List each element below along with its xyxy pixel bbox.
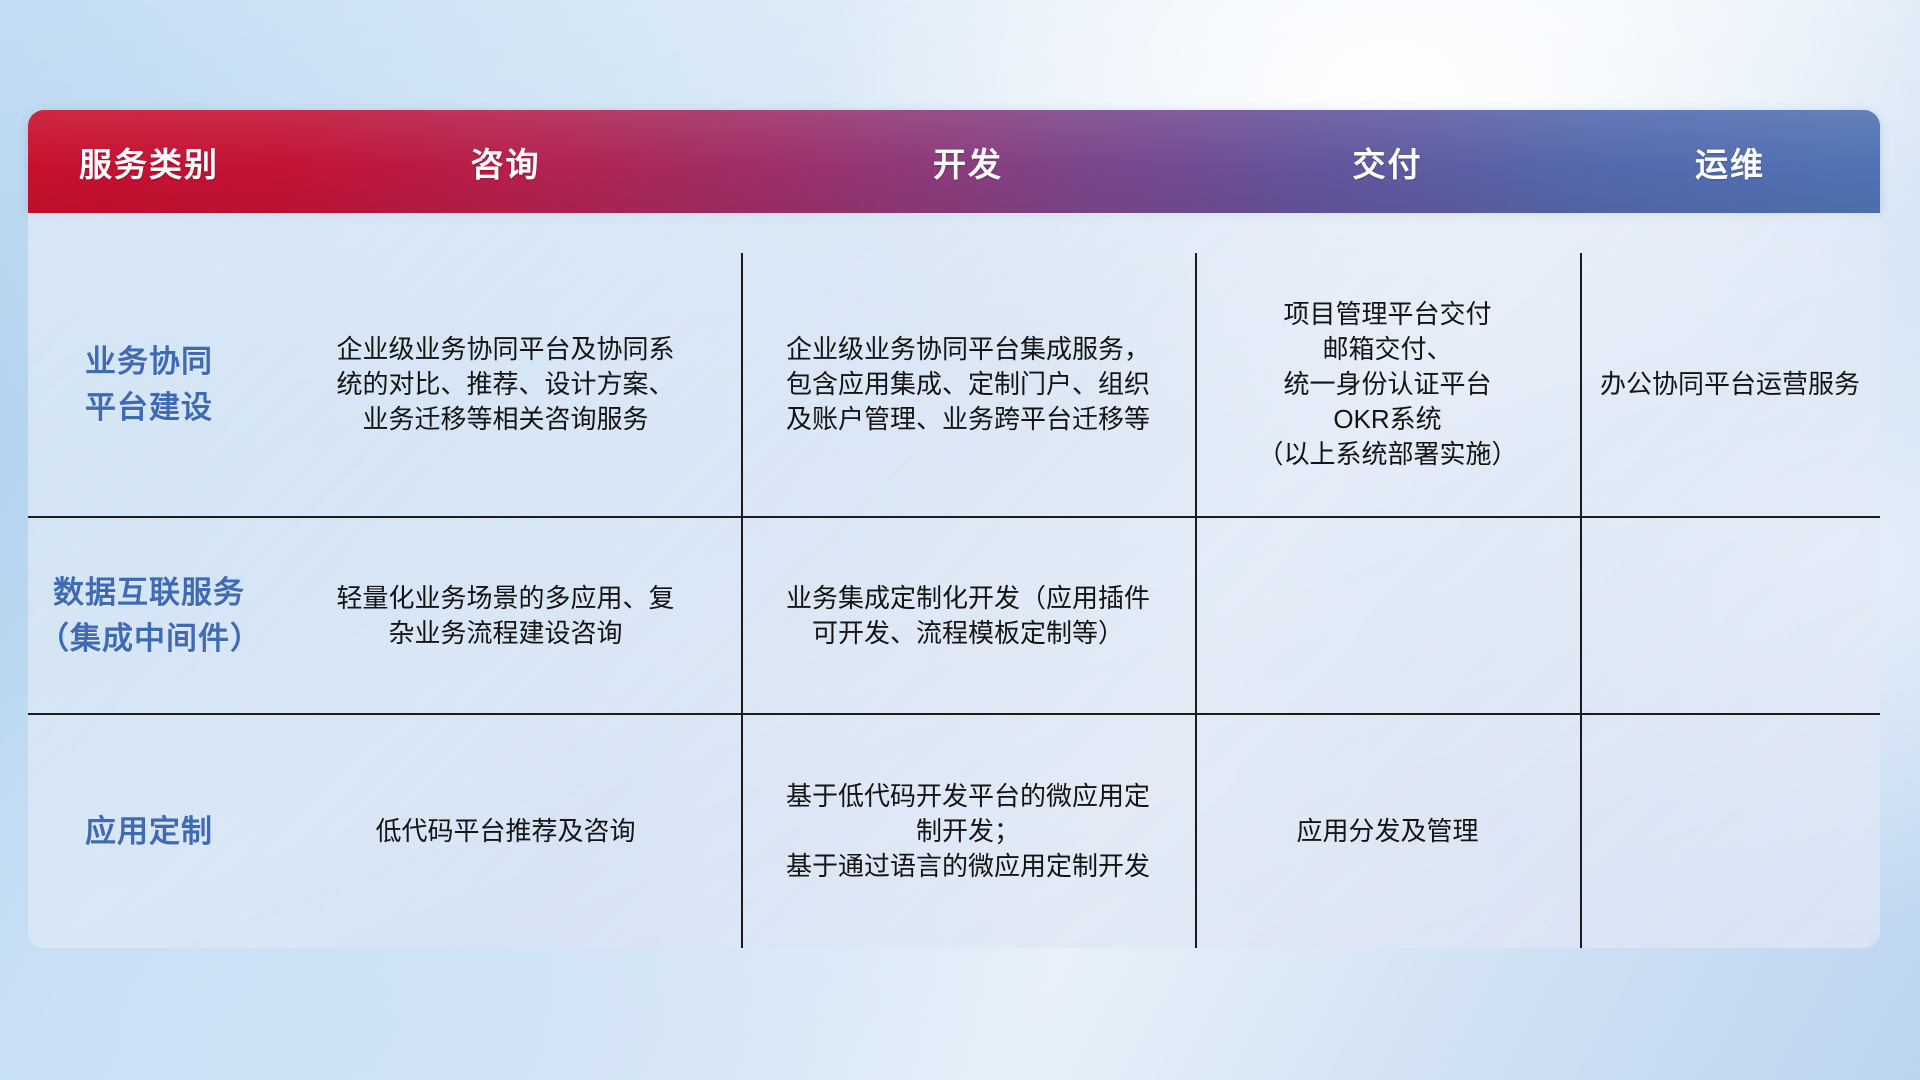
cell-r1-consulting: 企业级业务协同平台及协同系 统的对比、推荐、设计方案、 业务迁移等相关咨询服务 (270, 253, 741, 516)
cell-r3-consulting: 低代码平台推荐及咨询 (270, 715, 741, 948)
column-divider-3 (1580, 253, 1582, 948)
cell-r1-development: 企业级业务协同平台集成服务， 包含应用集成、定制门户、组织 及账户管理、业务跨平… (741, 253, 1195, 516)
table-body: 业务协同 平台建设 企业级业务协同平台及协同系 统的对比、推荐、设计方案、 业务… (28, 213, 1880, 948)
service-matrix-table: 服务类别 咨询 开发 交付 运维 业务协同 平台建设 企业级业务协同平台及协同系… (28, 110, 1880, 948)
row-label-app-customization: 应用定制 (28, 715, 270, 948)
cell-r3-development: 基于低代码开发平台的微应用定 制开发； 基于通过语言的微应用定制开发 (741, 715, 1195, 948)
cell-r2-consulting: 轻量化业务场景的多应用、复 杂业务流程建设咨询 (270, 518, 741, 713)
table-header-row: 服务类别 咨询 开发 交付 运维 (28, 110, 1880, 213)
column-header-consulting: 咨询 (270, 110, 741, 213)
cell-r1-operations: 办公协同平台运营服务 (1580, 253, 1880, 516)
column-header-category: 服务类别 (28, 110, 270, 213)
column-divider-2 (1195, 253, 1197, 948)
cell-r2-operations (1580, 518, 1880, 713)
row-divider-1 (28, 516, 1880, 518)
column-header-development: 开发 (741, 110, 1195, 213)
cell-r1-delivery: 项目管理平台交付 邮箱交付、 统一身份认证平台 OKR系统 （以上系统部署实施） (1195, 253, 1580, 516)
cell-r3-operations (1580, 715, 1880, 948)
cell-r2-delivery (1195, 518, 1580, 713)
row-divider-2 (28, 713, 1880, 715)
column-header-delivery: 交付 (1195, 110, 1580, 213)
cell-r2-development: 业务集成定制化开发（应用插件 可开发、流程模板定制等） (741, 518, 1195, 713)
row-label-business-collaboration: 业务协同 平台建设 (28, 253, 270, 516)
column-divider-1 (741, 253, 743, 948)
column-header-operations: 运维 (1580, 110, 1880, 213)
cell-r3-delivery: 应用分发及管理 (1195, 715, 1580, 948)
row-label-data-interconnect: 数据互联服务 （集成中间件） (28, 518, 270, 713)
